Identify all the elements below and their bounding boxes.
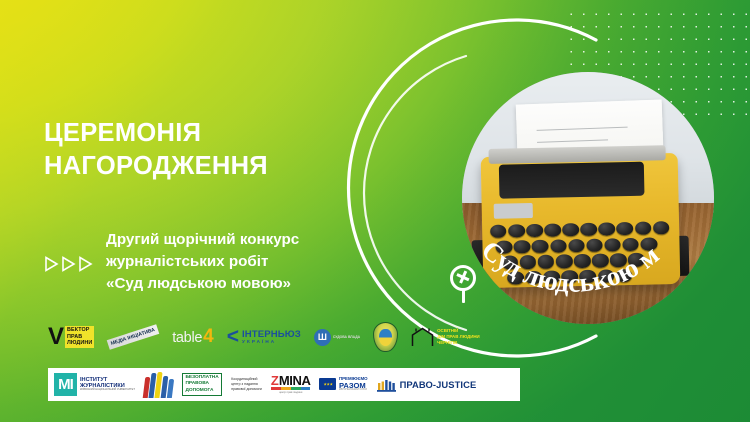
mi-monogram-icon: MI (54, 373, 77, 396)
logo-zmina: Z MINA центр прав людини (271, 375, 311, 395)
shield-icon (373, 322, 398, 352)
house-icon (411, 327, 434, 347)
presentation-slide: Суд людською м ЦЕРЕМОНІЯ НАГОРОДЖЕННЯ Др… (0, 0, 750, 422)
logo-prokuratura-emblem (373, 322, 398, 352)
checkmark-icon: V (48, 327, 64, 346)
partner-logos-band: MI ІНСТИТУТ ЖУРНАЛІСТИКИ КИЇВСЬКИЙ НАЦІО… (48, 368, 520, 401)
logo-bezoplatna-pravova-dopomoga: БЕЗОПЛАТНА ПРАВОВА ДОПОМОГА (182, 373, 222, 397)
court-circle-icon: Ш (314, 329, 331, 346)
partner-logos-top-row: V ВЕКТОР ПРАВ ЛЮДИНИ МЕДІА ІНІЦІАТИВА ta… (48, 322, 480, 352)
subtitle-line-2: журналістських робіт (106, 251, 406, 273)
triple-arrow-icon (44, 256, 93, 272)
curved-brand-text: Суд людською м (452, 62, 734, 344)
logo-vector-prav-lyudyny: V ВЕКТОР ПРАВ ЛЮДИНИ (48, 326, 94, 348)
logo-instytut-zhurnalistyky: MI ІНСТИТУТ ЖУРНАЛІСТИКИ КИЇВСЬКИЙ НАЦІО… (54, 373, 135, 396)
logo-ukraine-flags (144, 372, 173, 398)
logo-vector-text: ВЕКТОР ПРАВ ЛЮДИНИ (65, 326, 94, 348)
zmina-color-bar (271, 387, 311, 390)
circle-emblem-stem-icon (462, 290, 465, 303)
logo-sudova-vlada: Ш СУДОВА ВЛАДА (314, 329, 360, 346)
logo-table4: table 4 (172, 329, 214, 346)
subtitle-line-3: «Суд людською мовою» (106, 273, 406, 295)
logo-osvitniy-dim: ОСВІТНІЙ ДІМ ПРАВ ЛЮДИНИ ЧЕРНІГІВ (411, 327, 480, 347)
courthouse-icon (377, 378, 396, 392)
logo-internews-ukraine: < ІНТЕРНЬЮЗ УКРАЇНА (227, 330, 301, 345)
eu-flag-icon (319, 378, 336, 390)
logo-media-initiative: МЕДІА ІНІЦІАТИВА (107, 332, 159, 342)
circle-emblem-icon (450, 265, 476, 291)
page-title: ЦЕРЕМОНІЯ НАГОРОДЖЕННЯ (44, 117, 268, 183)
logo-koordynatsiynyi-tsentr: Координаційний центр з надання правової … (231, 377, 262, 392)
slide-subtitle: Другий щорічний конкурс журналістських р… (106, 229, 406, 295)
chevron-left-icon: < (227, 330, 239, 345)
logo-premiyuemo-razom: ПРЕМІЮЄМО РАЗОМ ЄВРОПЕЙСЬКИЙ СОЮЗ (319, 377, 367, 392)
subtitle-line-1: Другий щорічний конкурс (106, 229, 406, 251)
curved-text-label: Суд людською м (476, 235, 665, 298)
logo-pravo-justice: ПРАВО-JUSTICE (377, 378, 477, 392)
